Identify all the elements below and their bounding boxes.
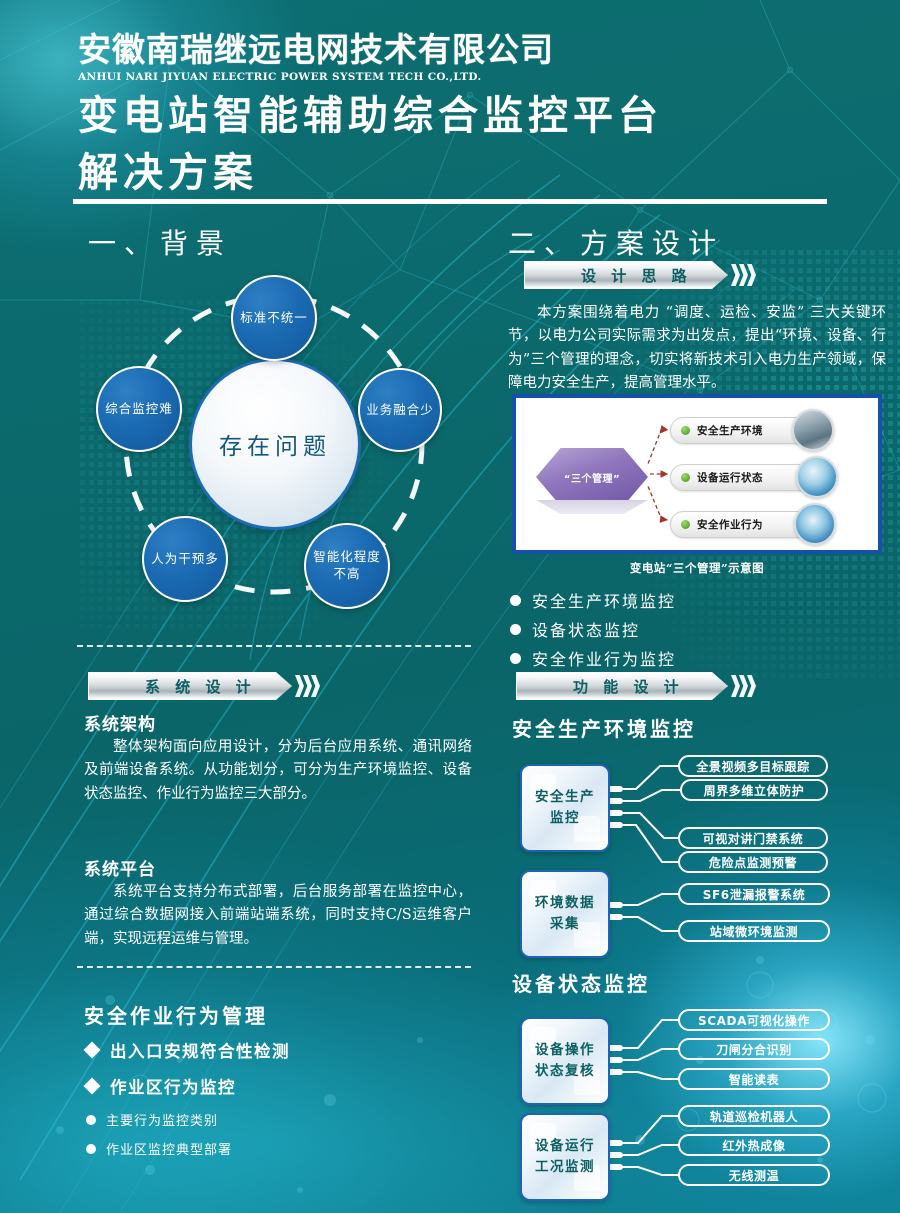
three-management-figure: “三个管理” 安全生产环境 设备运行状态 安全作业行为 bbox=[512, 394, 882, 554]
safety-diamond-label: 作业区行为监控 bbox=[110, 1074, 236, 1098]
tree-box-safe-production-monitor[interactable]: 安全生产 监控 bbox=[520, 764, 610, 852]
bullet-dot-icon bbox=[510, 624, 521, 635]
thumbnail-substation-icon bbox=[792, 409, 834, 451]
company-name-cn: 安徽南瑞继远电网技术有限公司 bbox=[78, 32, 778, 68]
tree-box-env-data-collect[interactable]: 环境数据 采集 bbox=[520, 870, 610, 958]
banner-function-design-label: 功 能 设 计 bbox=[517, 676, 684, 697]
safety-dot-label: 主要行为监控类别 bbox=[106, 1110, 218, 1129]
banner-design-idea: 设 计 思 路 bbox=[524, 261, 756, 289]
tree-safe-production-env: 安全生产 监控 环境数据 采集 全景视频多目标跟踪 周界多维立体防护 可视对讲门… bbox=[512, 748, 900, 968]
tree-box-label-line2: 状态复核 bbox=[535, 1061, 595, 1082]
tree-box-label-line2: 监控 bbox=[550, 808, 580, 829]
problem-node-manual-intervention[interactable]: 人为干预多 bbox=[142, 516, 228, 602]
tree-leaf-panoramic-tracking[interactable]: 全景视频多目标跟踪 bbox=[678, 755, 828, 777]
bullet-dot-icon bbox=[86, 1144, 96, 1154]
tree-box-label-line2: 工况监测 bbox=[535, 1157, 595, 1178]
company-logo-block: 安徽南瑞继远电网技术有限公司 ANHUI NARI JIYUAN ELECTRI… bbox=[78, 32, 778, 83]
tree-leaf-switch-state-recognition[interactable]: 刀闸分合识别 bbox=[678, 1038, 830, 1060]
three-management-figure-inner: “三个管理” 安全生产环境 设备运行状态 安全作业行为 bbox=[522, 404, 872, 544]
monitor-bullet-label: 安全作业行为监控 bbox=[532, 646, 676, 670]
banner-system-design-label: 系 统 设 计 bbox=[89, 676, 256, 697]
tree-leaf-perimeter-protection[interactable]: 周界多维立体防护 bbox=[680, 779, 828, 801]
subheading-system-platform: 系统平台 bbox=[84, 855, 156, 880]
tree-leaf-danger-point-warning[interactable]: 危险点监测预警 bbox=[678, 851, 828, 873]
safety-dot-label: 作业区监控典型部署 bbox=[106, 1139, 232, 1158]
safety-dot-list: 主要行为监控类别 作业区监控典型部署 bbox=[86, 1110, 232, 1168]
page-title-line2: 解决方案 bbox=[78, 145, 838, 202]
monitor-bullet-label: 安全生产环境监控 bbox=[532, 588, 676, 612]
thumbnail-globe-icon bbox=[796, 456, 838, 498]
heading-safety-behavior: 安全作业行为管理 bbox=[84, 1000, 268, 1029]
monitor-bullet-label: 设备状态监控 bbox=[532, 617, 640, 641]
tree-box-label-line2: 采集 bbox=[550, 914, 580, 935]
safety-diamond-list: 出入口安规符合性检测 作业区行为监控 bbox=[86, 1038, 290, 1110]
tree-box-label-line1: 环境数据 bbox=[535, 893, 595, 914]
banner-function-design-plate: 功 能 设 计 bbox=[516, 672, 728, 700]
tree-leaf-micro-env-monitor[interactable]: 站域微环境监测 bbox=[678, 920, 830, 942]
three-management-row-equipment-label: 设备运行状态 bbox=[697, 470, 763, 485]
status-dot-icon bbox=[681, 426, 690, 435]
banner-system-design-plate: 系 统 设 计 bbox=[88, 672, 292, 700]
tree-leaf-smart-meter-reading[interactable]: 智能读表 bbox=[678, 1068, 830, 1090]
problem-diagram: 存在问题 标准不统一 综合监控难 业务融合少 人为干预多 智能化程度 不高 bbox=[86, 268, 476, 628]
tree-equipment-status: 设备操作 状态复核 设备运行 工况监测 SCADA可视化操作 刀闸分合识别 智能… bbox=[512, 1003, 900, 1203]
tree-box-label-line1: 设备运行 bbox=[535, 1136, 595, 1157]
tree-leaf-scada-visual-operation[interactable]: SCADA可视化操作 bbox=[678, 1009, 830, 1031]
monitor-bullet-item: 设备状态监控 bbox=[510, 617, 676, 641]
banner-system-design: 系 统 设 计 bbox=[88, 672, 320, 700]
tree-leaf-infrared-thermal-imaging[interactable]: 红外热成像 bbox=[678, 1134, 830, 1156]
safety-dot-item: 作业区监控典型部署 bbox=[86, 1139, 232, 1158]
problem-node-low-intelligence[interactable]: 智能化程度 不高 bbox=[304, 523, 390, 609]
tree-box-label-line1: 安全生产 bbox=[535, 787, 595, 808]
title-divider bbox=[73, 199, 827, 204]
safety-diamond-item: 作业区行为监控 bbox=[86, 1074, 290, 1098]
company-name-en: ANHUI NARI JIYUAN ELECTRIC POWER SYSTEM … bbox=[78, 71, 778, 83]
system-platform-paragraph: 系统平台支持分布式部署，后台服务部署在监控中心，通过综合数据网接入前端站端系统，… bbox=[84, 881, 472, 951]
banner-function-design: 功 能 设 计 bbox=[516, 672, 756, 700]
problem-center-node: 存在问题 bbox=[189, 358, 361, 530]
poster-root: 安徽南瑞继远电网技术有限公司 ANHUI NARI JIYUAN ELECTRI… bbox=[0, 0, 900, 1213]
section-heading-background: 一、背景 bbox=[88, 222, 232, 262]
thumbnail-worker-icon bbox=[794, 503, 836, 545]
system-architecture-paragraph: 整体架构面向应用设计，分为后台应用系统、通讯网络及前端设备系统。从功能划分，可分… bbox=[84, 736, 472, 806]
problem-node-business-fusion[interactable]: 业务融合少 bbox=[358, 368, 442, 452]
monitor-bullet-item: 安全生产环境监控 bbox=[510, 588, 676, 612]
banner-design-idea-label: 设 计 思 路 bbox=[525, 265, 692, 286]
three-management-row-behavior-label: 安全作业行为 bbox=[697, 517, 763, 532]
page-title: 变电站智能辅助综合监控平台 解决方案 bbox=[78, 88, 838, 202]
tree-box-equipment-condition-monitor[interactable]: 设备运行 工况监测 bbox=[520, 1113, 610, 1201]
monitor-bullet-item: 安全作业行为监控 bbox=[510, 646, 676, 670]
design-idea-paragraph: 本方案围绕着电力 “调度、运检、安监” 三大关键环节，以电力公司实际需求为出发点… bbox=[508, 302, 886, 396]
heading-equipment-status: 设备状态监控 bbox=[512, 968, 650, 997]
diamond-bullet-icon bbox=[84, 1042, 101, 1059]
problem-node-standard[interactable]: 标准不统一 bbox=[231, 275, 317, 361]
banner-design-idea-plate: 设 计 思 路 bbox=[524, 261, 728, 289]
three-management-row-environment-label: 安全生产环境 bbox=[697, 423, 763, 438]
diamond-bullet-icon bbox=[84, 1078, 101, 1095]
tree-leaf-intercom-access[interactable]: 可视对讲门禁系统 bbox=[678, 827, 828, 849]
chevron-right-icon bbox=[732, 675, 756, 697]
divider-system-design bbox=[77, 645, 471, 647]
section-heading-design: 二、方案设计 bbox=[508, 222, 724, 262]
status-dot-icon bbox=[681, 520, 690, 529]
page-title-line1: 变电站智能辅助综合监控平台 bbox=[78, 88, 838, 145]
tree-leaf-wireless-temperature[interactable]: 无线测温 bbox=[678, 1164, 830, 1186]
chevron-right-icon bbox=[296, 675, 320, 697]
bullet-dot-icon bbox=[510, 595, 521, 606]
safety-diamond-label: 出入口安规符合性检测 bbox=[110, 1038, 290, 1062]
tree-box-label-line1: 设备操作 bbox=[535, 1040, 595, 1061]
safety-diamond-item: 出入口安规符合性检测 bbox=[86, 1038, 290, 1062]
tree-leaf-rail-inspection-robot[interactable]: 轨道巡检机器人 bbox=[678, 1105, 830, 1127]
heading-safe-production-env: 安全生产环境监控 bbox=[512, 713, 696, 742]
chevron-right-icon bbox=[732, 264, 756, 286]
divider-safety-behavior bbox=[77, 966, 471, 968]
monitor-bullet-list: 安全生产环境监控 设备状态监控 安全作业行为监控 bbox=[510, 588, 676, 675]
tree-box-equipment-operation-review[interactable]: 设备操作 状态复核 bbox=[520, 1017, 610, 1105]
tree-leaf-sf6-leak-alarm[interactable]: SF6泄漏报警系统 bbox=[678, 883, 830, 905]
three-management-caption: 变电站“三个管理”示意图 bbox=[512, 560, 882, 576]
subheading-system-architecture: 系统架构 bbox=[84, 710, 156, 735]
bullet-dot-icon bbox=[510, 653, 521, 664]
problem-node-integrated-monitor[interactable]: 综合监控难 bbox=[96, 366, 182, 452]
bullet-dot-icon bbox=[86, 1115, 96, 1125]
status-dot-icon bbox=[681, 473, 690, 482]
safety-dot-item: 主要行为监控类别 bbox=[86, 1110, 232, 1129]
